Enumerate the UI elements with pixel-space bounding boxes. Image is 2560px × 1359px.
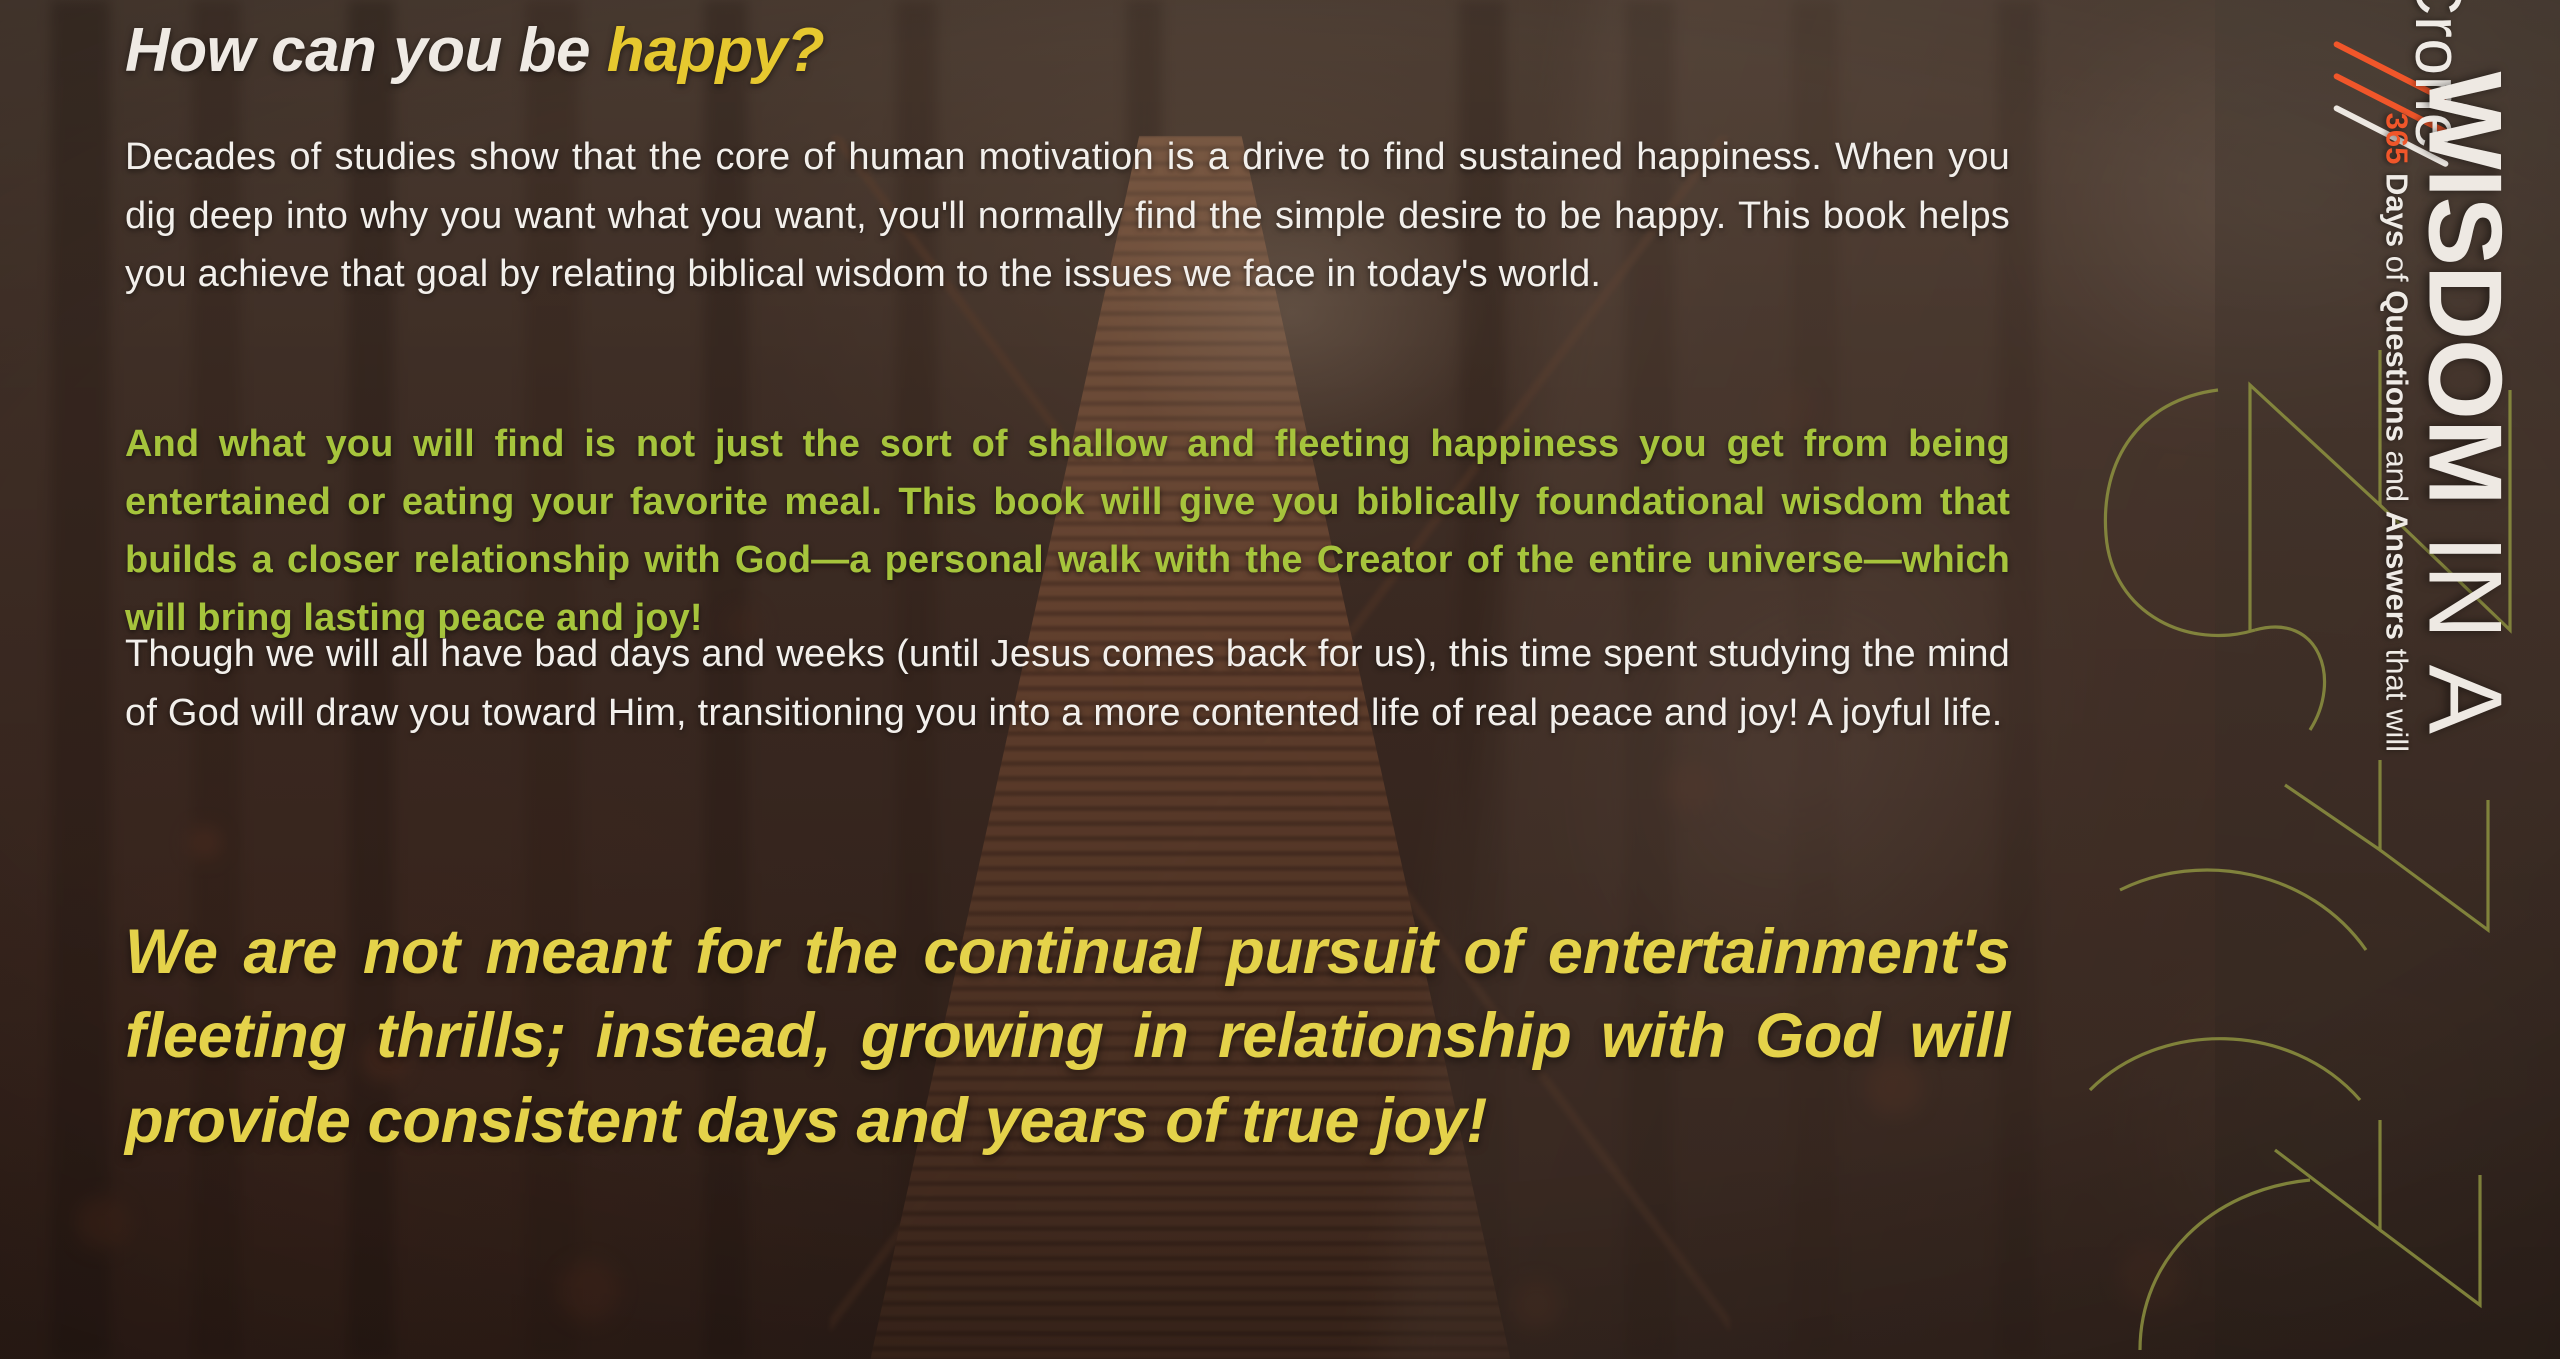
subtitle-and: and	[2379, 442, 2414, 511]
paragraph-highlight: And what you will find is not just the s…	[125, 415, 2010, 648]
subtitle-questions: Questions	[2379, 290, 2414, 442]
paragraph-though: Though we will all have bad days and wee…	[125, 625, 2010, 742]
subtitle-of: of	[2379, 247, 2414, 290]
page-title: How can you be happy?	[125, 18, 824, 83]
subtitle-tail: that will	[2379, 640, 2414, 752]
book-back-cover: How can you be happy? Decades of studies…	[0, 0, 2560, 1359]
page-title-accent: happy?	[607, 16, 824, 85]
subtitle-number: 365	[2379, 113, 2414, 165]
book-subtitle: 365 Days of Questions and Answers that w…	[2381, 113, 2412, 752]
spine-branding: Billy Crone WISDOM IN A 365 Days of Ques…	[2215, 0, 2560, 1359]
cover-copy: How can you be happy? Decades of studies…	[125, 0, 2010, 1359]
paragraph-closing: We are not meant for the continual pursu…	[125, 910, 2010, 1163]
subtitle-answers: Answers	[2379, 511, 2414, 640]
book-title: WISDOM IN A	[2412, 72, 2516, 735]
page-title-lead: How can you be	[125, 16, 607, 85]
paragraph-intro: Decades of studies show that the core of…	[125, 128, 2010, 304]
book-title-suffix: IN A	[2406, 505, 2522, 735]
subtitle-days: Days	[2379, 164, 2414, 247]
book-title-main: WISDOM	[2406, 72, 2522, 505]
